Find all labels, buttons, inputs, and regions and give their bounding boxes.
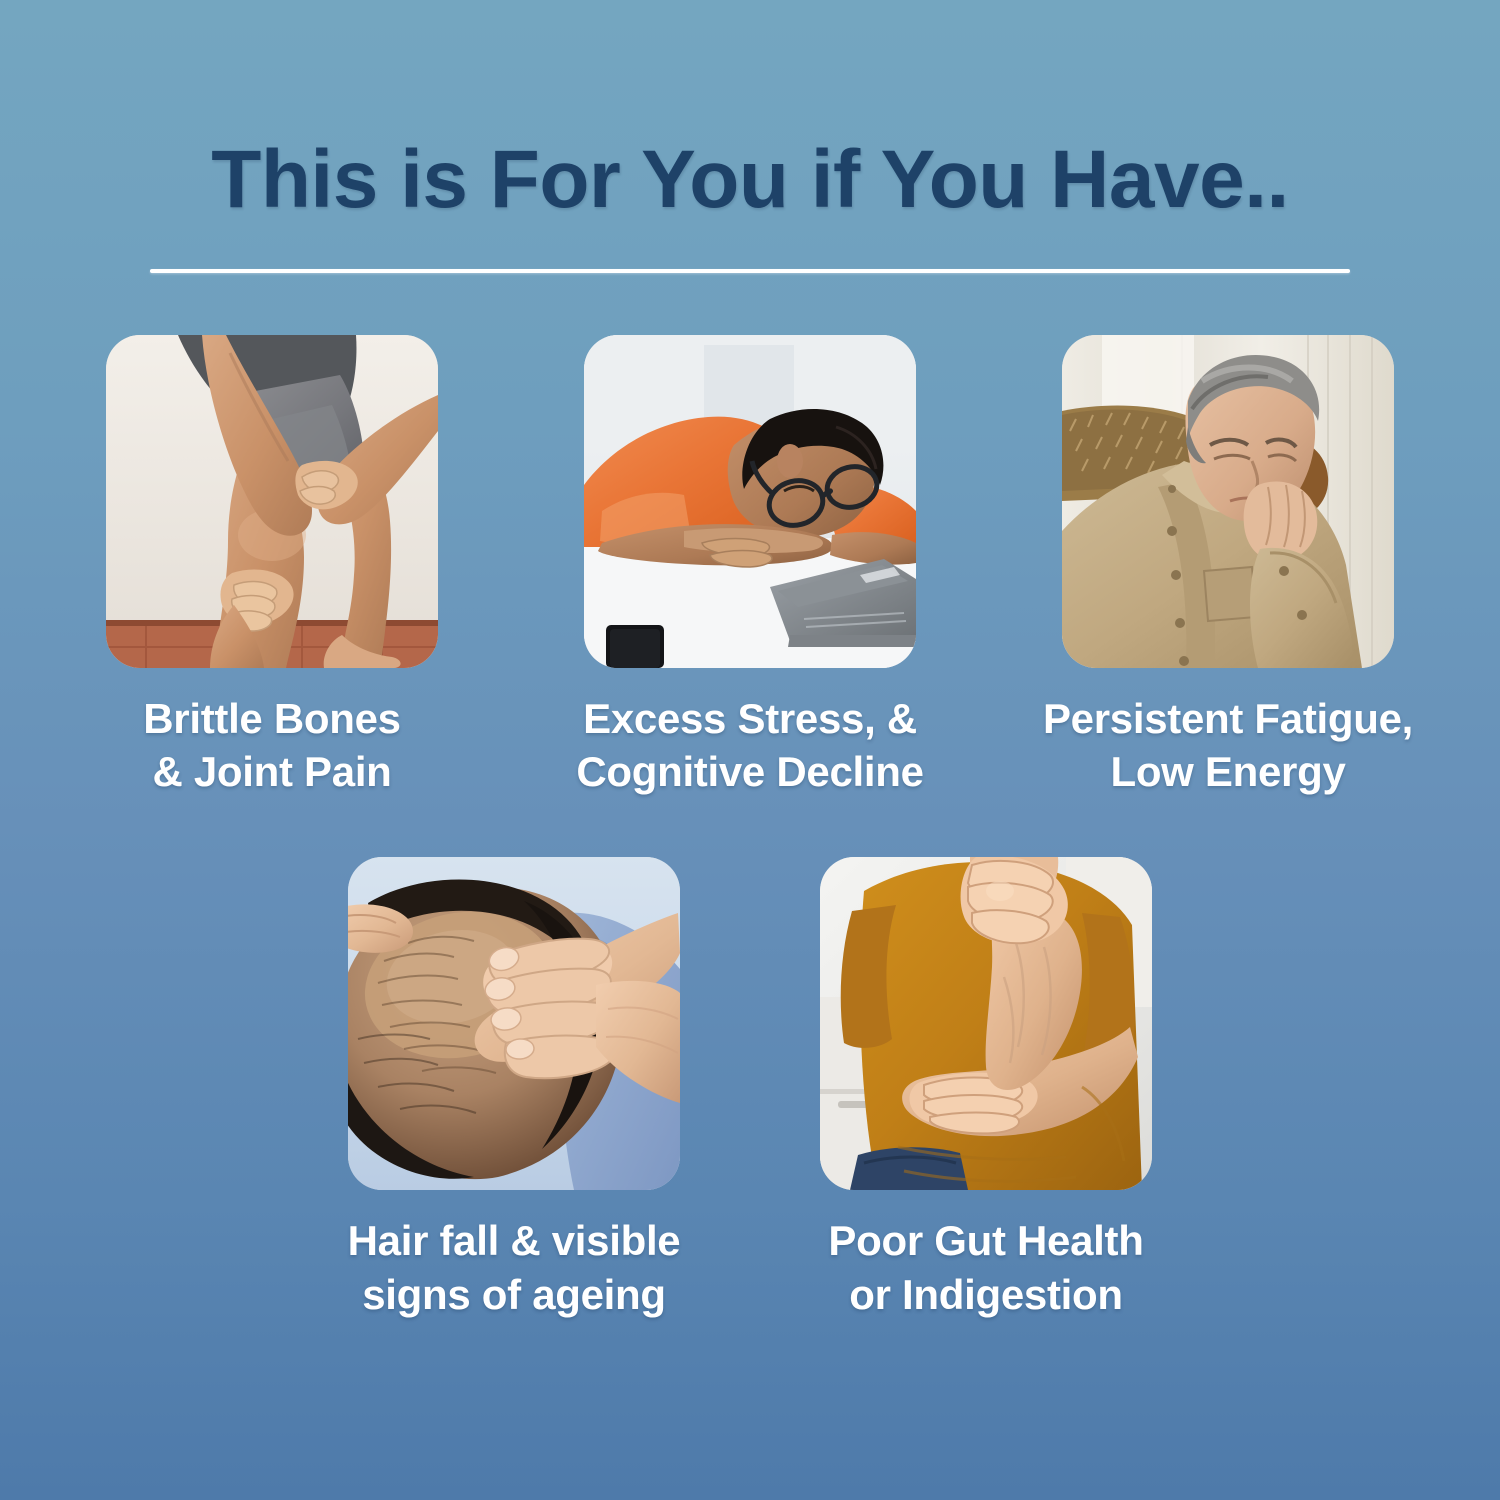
title-divider (150, 269, 1350, 273)
photo-man-holding-stomach (820, 857, 1152, 1190)
header: This is For You if You Have.. (0, 0, 1500, 273)
photo-man-holding-knee (106, 335, 438, 668)
symptom-card-poor-gut-health[interactable]: Poor Gut Health or Indigestion (820, 857, 1152, 1322)
symptom-grid: Brittle Bones & Joint Pain (0, 335, 1500, 1322)
caption-poor-gut-health: Poor Gut Health or Indigestion (766, 1214, 1206, 1322)
photo-balding-scalp (348, 857, 680, 1190)
symptom-row-1: Brittle Bones & Joint Pain (0, 335, 1500, 800)
symptom-card-brittle-bones[interactable]: Brittle Bones & Joint Pain (106, 335, 438, 800)
symptom-card-persistent-fatigue[interactable]: Persistent Fatigue, Low Energy (1062, 335, 1394, 800)
caption-hair-fall: Hair fall & visible signs of ageing (314, 1214, 714, 1322)
caption-persistent-fatigue: Persistent Fatigue, Low Energy (998, 692, 1458, 800)
caption-brittle-bones: Brittle Bones & Joint Pain (72, 692, 472, 800)
page-title: This is For You if You Have.. (0, 138, 1500, 222)
symptom-card-hair-fall[interactable]: Hair fall & visible signs of ageing (348, 857, 680, 1322)
caption-excess-stress: Excess Stress, & Cognitive Decline (530, 692, 970, 800)
photo-tired-older-man (1062, 335, 1394, 668)
symptom-card-excess-stress[interactable]: Excess Stress, & Cognitive Decline (584, 335, 916, 800)
photo-stressed-man-at-desk (584, 335, 916, 668)
symptom-row-2: Hair fall & visible signs of ageing (0, 857, 1500, 1322)
infographic-page: This is For You if You Have.. (0, 0, 1500, 1500)
